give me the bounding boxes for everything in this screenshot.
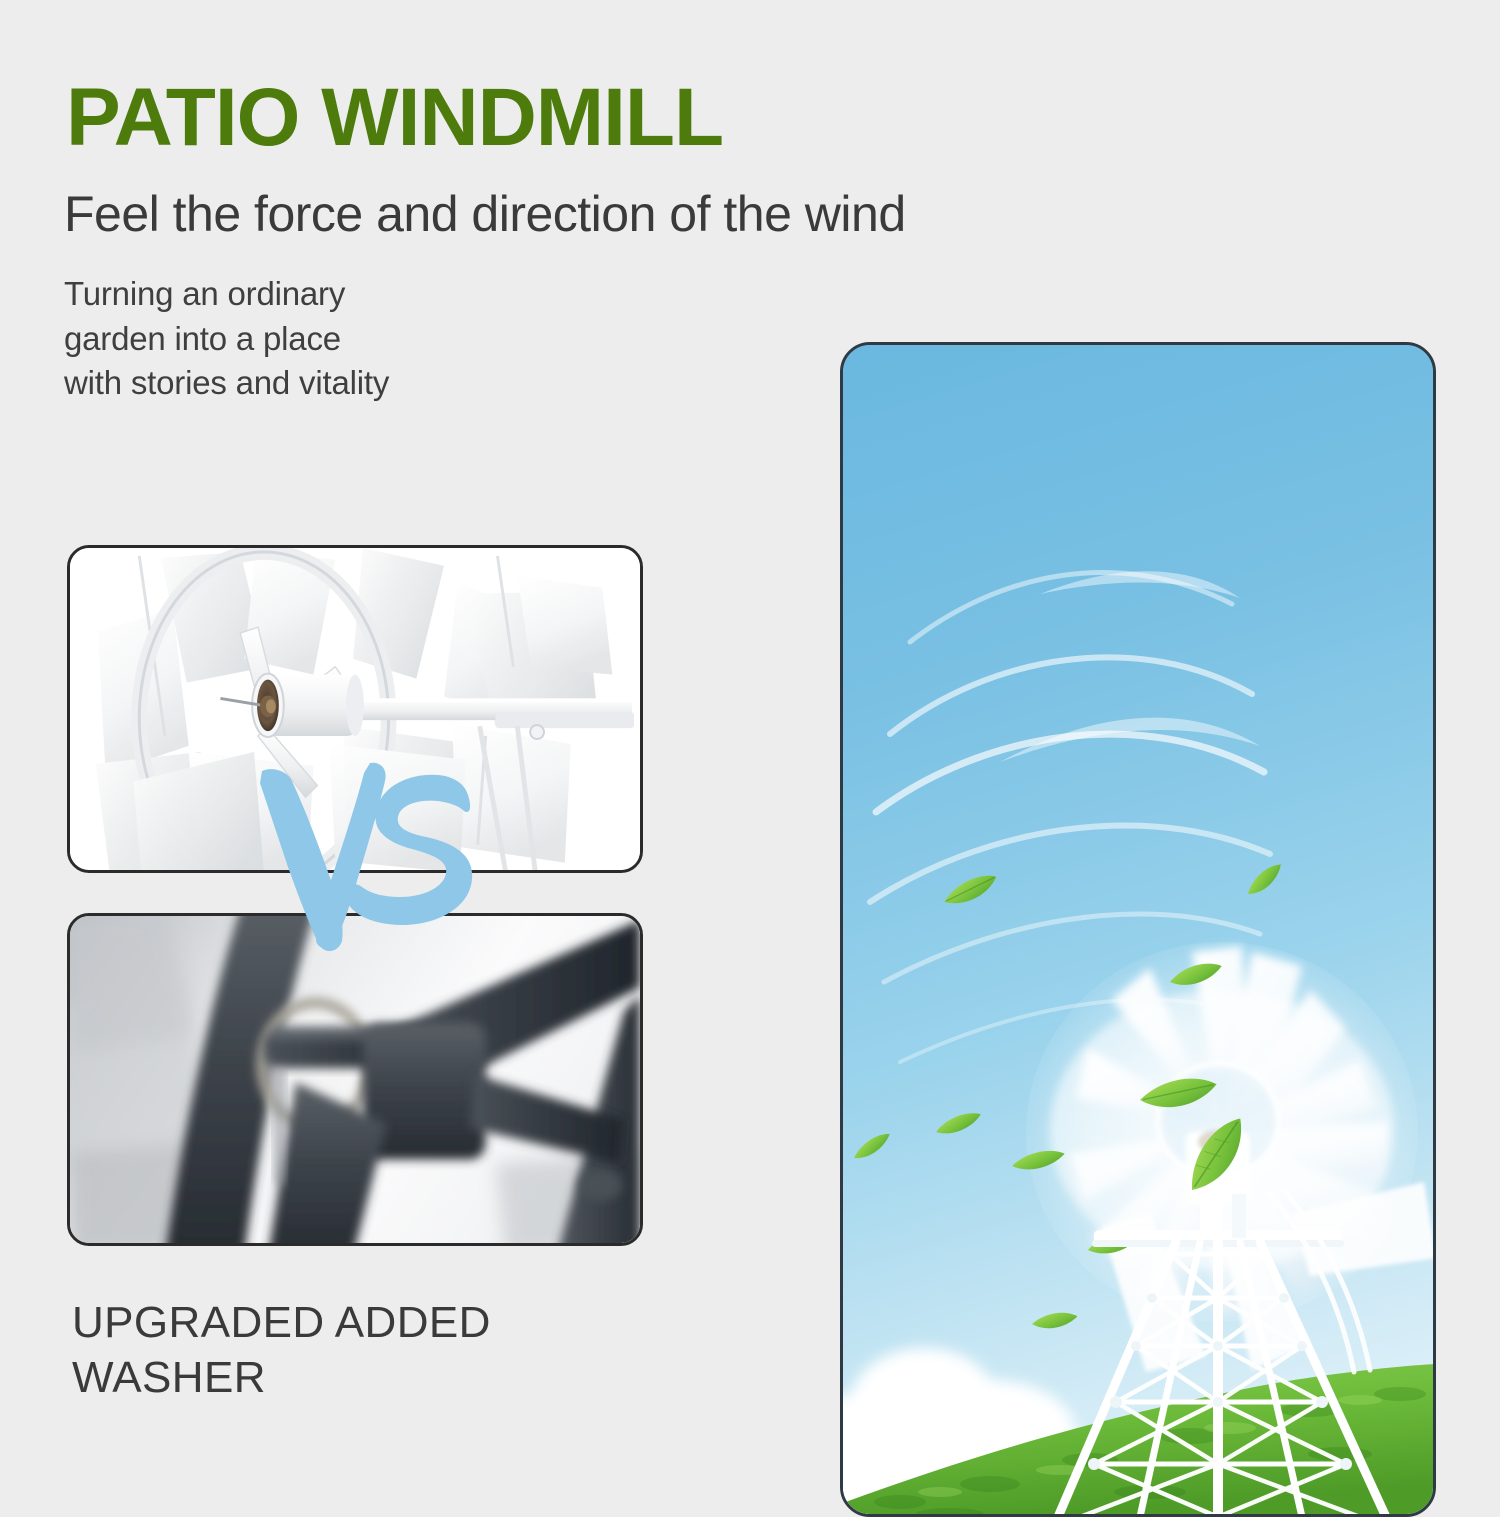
page-title: PATIO WINDMILL — [66, 78, 723, 158]
page-blurb: Turning an ordinary garden into a place … — [64, 272, 389, 406]
product-infographic-page: PATIO WINDMILL Feel the force and direct… — [0, 0, 1500, 1500]
blurb-line-1: Turning an ordinary — [64, 272, 389, 317]
comparison-caption: UPGRADED ADDED WASHER — [72, 1295, 491, 1405]
page-subtitle: Feel the force and direction of the wind — [64, 188, 906, 241]
comparison-card-standard — [67, 913, 643, 1246]
caption-line-1: UPGRADED ADDED — [72, 1295, 491, 1350]
comparison-card-upgraded — [67, 545, 643, 873]
upgraded-white-hub-photo — [70, 548, 640, 873]
blurb-line-2: garden into a place — [64, 317, 389, 362]
hero-image-panel — [840, 342, 1436, 1517]
caption-line-2: WASHER — [72, 1350, 491, 1405]
standard-dark-hub-photo — [70, 916, 640, 1246]
blurb-line-3: with stories and vitality — [64, 361, 389, 406]
windmill-lifestyle-photo — [840, 342, 1436, 1517]
